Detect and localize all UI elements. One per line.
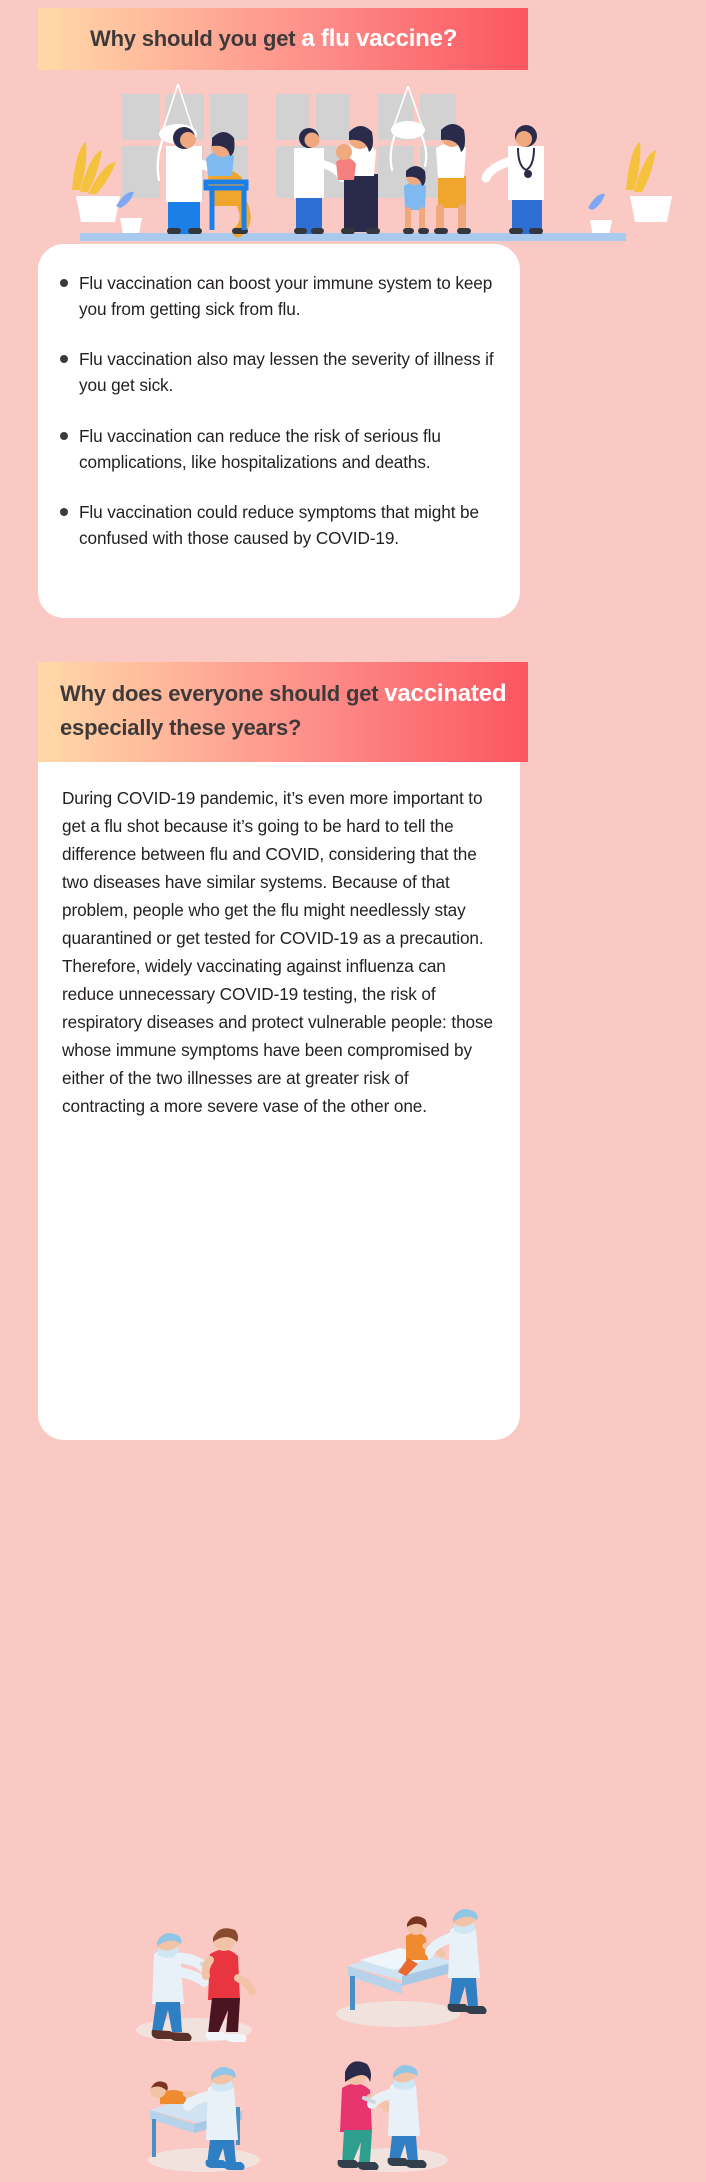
list-item-text: Flu vaccination also may lessen the seve…: [79, 349, 494, 395]
list-item: Flu vaccination also may lessen the seve…: [60, 346, 498, 398]
clinic-vaccination-illustration: [0, 78, 706, 250]
section-two-heading-banner: Why does everyone should get vaccinated …: [38, 662, 528, 762]
heading-line1-plain-text: Why does everyone should get: [60, 681, 384, 706]
list-item-text: Flu vaccination could reduce symptoms th…: [79, 502, 479, 548]
list-item: Flu vaccination could reduce symptoms th…: [60, 499, 498, 551]
explanation-paragraph: During COVID-19 pandemic, it’s even more…: [62, 784, 496, 1120]
heading-line1-highlight-text: vaccinated: [384, 680, 506, 707]
list-item-text: Flu vaccination can reduce the risk of s…: [79, 426, 441, 472]
heading-line2-text: especially these years?: [60, 715, 301, 740]
bullet-dot-icon: [60, 508, 68, 516]
benefits-list: Flu vaccination can boost your immune sy…: [60, 270, 498, 551]
explanation-card: During COVID-19 pandemic, it’s even more…: [38, 762, 520, 1440]
bullet-dot-icon: [60, 355, 68, 363]
bullet-dot-icon: [60, 279, 68, 287]
heading-highlight-text: a flu vaccine?: [301, 25, 457, 52]
section-one-heading-banner: Why should you get a flu vaccine?: [38, 8, 528, 70]
bullet-dot-icon: [60, 432, 68, 440]
benefits-card: Flu vaccination can boost your immune sy…: [38, 244, 520, 618]
list-item-text: Flu vaccination can boost your immune sy…: [79, 273, 492, 319]
list-item: Flu vaccination can boost your immune sy…: [60, 270, 498, 322]
list-item: Flu vaccination can reduce the risk of s…: [60, 423, 498, 475]
infographic-poster: Why should you get a flu vaccine? Flu va…: [0, 0, 706, 2000]
section-two-heading: Why does everyone should get vaccinated …: [60, 677, 506, 744]
heading-plain-text: Why should you get: [90, 26, 301, 51]
isometric-vaccination-illustration: [98, 1902, 498, 2182]
section-one-heading: Why should you get a flu vaccine?: [90, 22, 457, 57]
